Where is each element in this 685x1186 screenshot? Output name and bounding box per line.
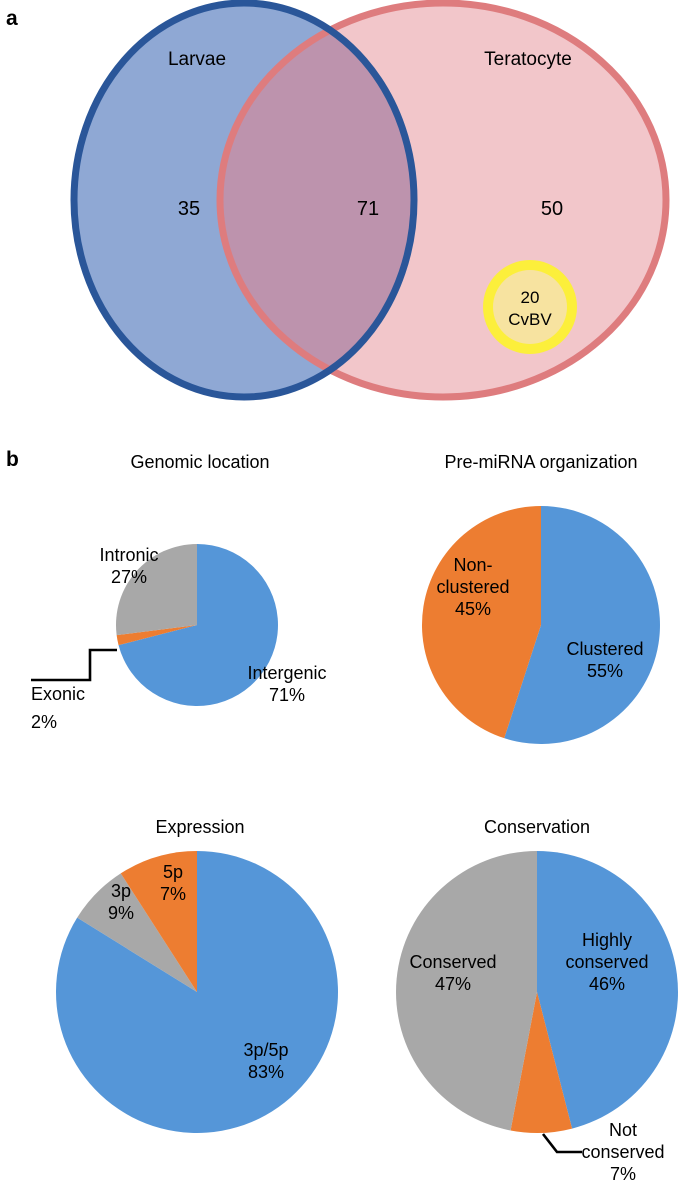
pie-label-highly-conserved-line1: Highly [582,930,632,950]
pie-label-exonic-pct: 2% [31,712,57,732]
panel-a: a Larvae Teratocyte 35 71 50 [6,3,666,397]
pie-label-not-conserved-line1: Not [609,1120,637,1140]
pie-label-highly-conserved-line2: conserved [565,952,648,972]
pie-title-genomic-location: Genomic location [130,452,269,472]
pie-label-highly-conserved-pct: 46% [589,974,625,994]
pie-leader-exonic [31,650,117,680]
pie-chart-expression: Expression 3p/5p 83% 5p 7% 3p 9% [56,817,338,1133]
venn-count-intersection: 71 [357,198,379,220]
pie-label-3p-name: 3p [111,881,131,901]
pie-label-non-clustered-name-line1: Non- [453,555,492,575]
pie-label-clustered-name: Clustered [566,639,643,659]
pie-label-intergenic-pct: 71% [269,685,305,705]
figure-canvas: a Larvae Teratocyte 35 71 50 [0,0,685,1186]
cvbv-fill [493,270,567,344]
pie-label-conserved-pct: 47% [435,974,471,994]
pie-label-not-conserved-pct: 7% [610,1164,636,1184]
pie-title-conservation: Conservation [484,817,590,837]
pie-slices-pre-mirna [422,506,660,744]
pie-label-intergenic-name: Intergenic [247,663,326,683]
panel-letter-a: a [6,7,18,30]
panel-b: b Genomic location Intergenic 71% Intron… [6,448,678,1184]
cvbv-count: 20 [521,288,540,307]
venn-count-larvae-only: 35 [178,198,200,220]
pie-label-non-clustered-pct: 45% [455,599,491,619]
figure-root: a Larvae Teratocyte 35 71 50 [0,0,685,1186]
pie-label-intronic-pct: 27% [111,567,147,587]
pie-label-clustered-pct: 55% [587,661,623,681]
pie-chart-genomic-location: Genomic location Intergenic 71% Intronic… [31,452,327,732]
pie-label-conserved-name: Conserved [409,952,496,972]
pie-leader-not-conserved [543,1134,582,1152]
venn-inset-cvbv: 20 CvBV [483,260,577,354]
venn-count-teratocyte-only: 50 [541,198,563,220]
pie-label-3p5p-name: 3p/5p [243,1040,288,1060]
pie-label-not-conserved-line2: conserved [581,1142,664,1162]
pie-label-5p-name: 5p [163,862,183,882]
venn-diagram: Larvae Teratocyte 35 71 50 20 CvBV [74,3,666,397]
pie-chart-conservation: Conservation Highly conserved 46% Conser… [396,817,678,1184]
pie-title-pre-mirna-organization: Pre-miRNA organization [444,452,637,472]
panel-letter-b: b [6,448,19,471]
pie-label-intronic-name: Intronic [99,545,158,565]
pie-title-expression: Expression [155,817,244,837]
pie-label-5p-pct: 7% [160,884,186,904]
venn-label-teratocyte: Teratocyte [484,49,572,70]
venn-label-larvae: Larvae [168,49,226,70]
pie-slices-expression [56,851,338,1133]
pie-label-exonic-name: Exonic [31,684,85,704]
pie-chart-pre-mirna-organization: Pre-miRNA organization Clustered 55% Non… [422,452,660,744]
pie-label-3p-pct: 9% [108,903,134,923]
pie-label-3p5p-pct: 83% [248,1062,284,1082]
pie-label-non-clustered-name-line2: clustered [436,577,509,597]
cvbv-label: CvBV [508,310,552,329]
